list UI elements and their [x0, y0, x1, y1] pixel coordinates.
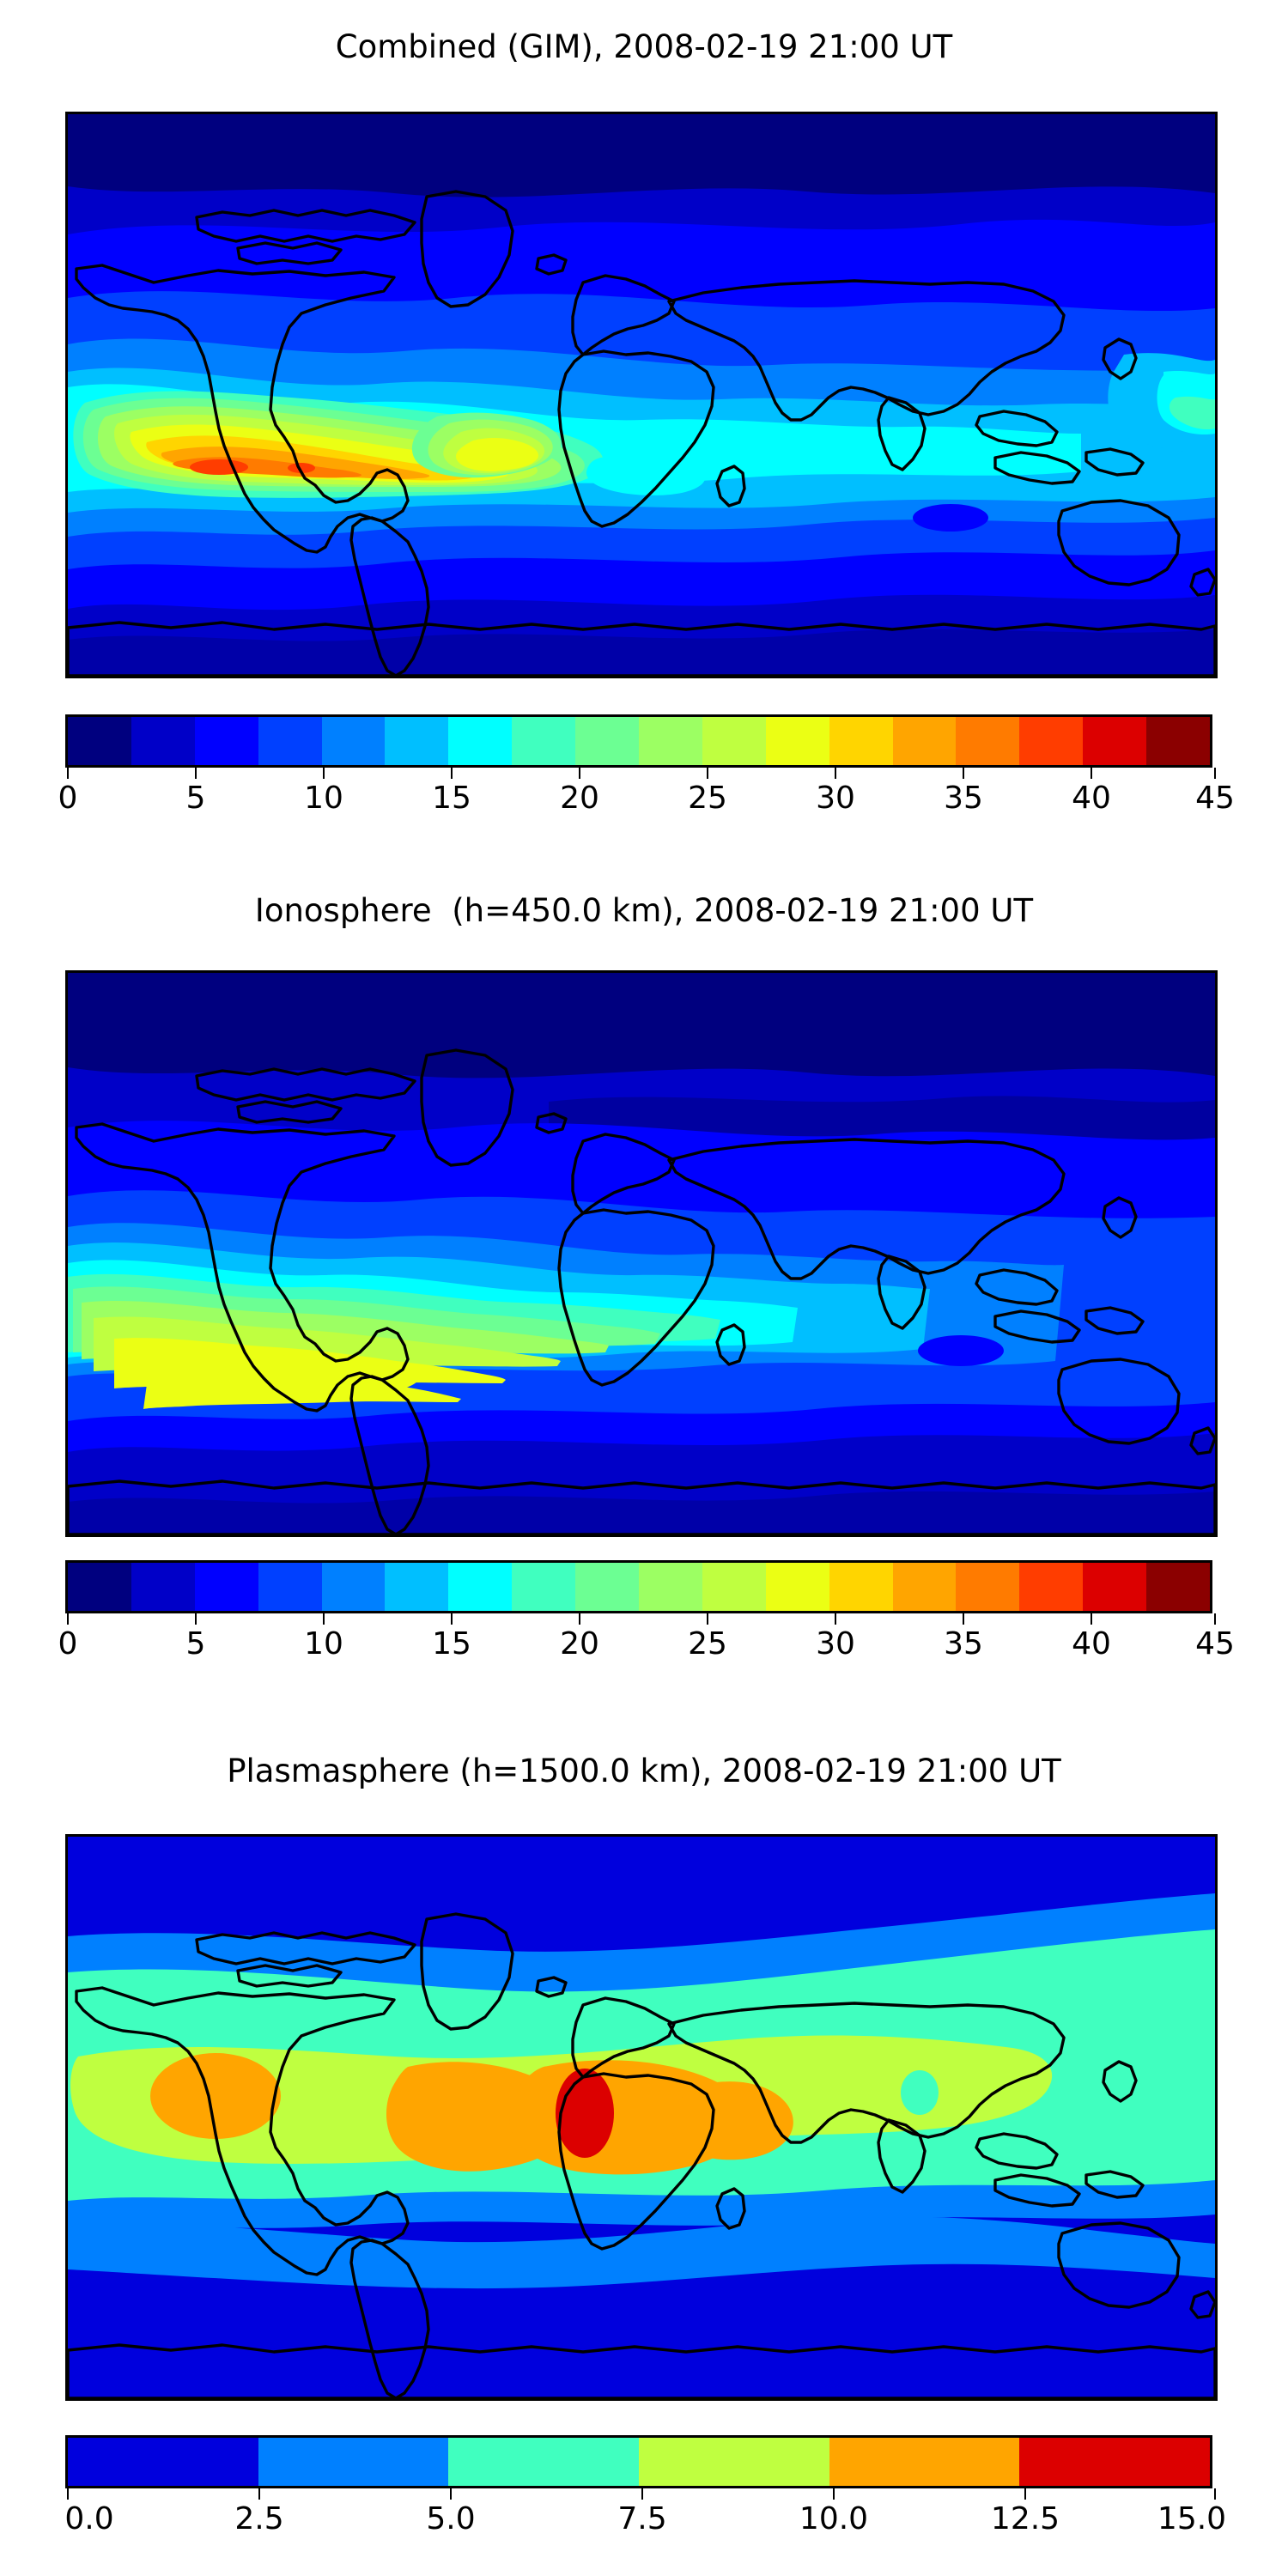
cbar2-tick-0: 0: [58, 1626, 78, 1662]
cbar1-tick-7: 35: [944, 781, 983, 816]
cbar1-tick-1: 5: [186, 781, 206, 816]
map-canvas-plasmasphere: [68, 1837, 1215, 2398]
contour-fills-combined-gim: [68, 114, 1215, 676]
map-combined-gim: [65, 112, 1218, 678]
colorbar-ionosphere: 0 5 10 15 20 25 30 35 40 45: [65, 1560, 1212, 1613]
colorbar-gradient-ionosphere: [65, 1560, 1212, 1613]
cbar3-tick-2: 5.0: [426, 2501, 475, 2537]
map-ionosphere: [65, 970, 1218, 1537]
cbar2-tick-5: 25: [688, 1626, 727, 1662]
colorbar-plasmasphere: 0.0 2.5 5.0 7.5 10.0 12.5 15.0: [65, 2435, 1212, 2488]
colorbar-ticks-combined-gim: 0 5 10 15 20 25 30 35 40 45: [65, 768, 1218, 819]
cbar2-tick-9: 45: [1195, 1626, 1235, 1662]
colorbar-ticks-ionosphere: 0 5 10 15 20 25 30 35 40 45: [65, 1613, 1218, 1665]
cbar2-tick-2: 10: [304, 1626, 343, 1662]
cbar1-tick-6: 30: [816, 781, 855, 816]
cbar1-tick-8: 40: [1072, 781, 1111, 816]
cbar2-tick-4: 20: [560, 1626, 599, 1662]
cbar2-tick-8: 40: [1072, 1626, 1111, 1662]
cbar1-tick-5: 25: [688, 781, 727, 816]
cbar2-tick-1: 5: [186, 1626, 206, 1662]
map-canvas-combined-gim: [68, 114, 1215, 676]
map-canvas-ionosphere: [68, 973, 1215, 1534]
cbar3-tick-1: 2.5: [234, 2501, 283, 2537]
panel-title-ionosphere: Ionosphere (h=450.0 km), 2008-02-19 21:0…: [0, 893, 1288, 929]
cbar1-tick-3: 15: [432, 781, 471, 816]
cbar1-tick-2: 10: [304, 781, 343, 816]
tec-figure: Combined (GIM), 2008-02-19 21:00 UT: [0, 0, 1288, 2576]
colorbar-ticks-plasmasphere: 0.0 2.5 5.0 7.5 10.0 12.5 15.0: [65, 2488, 1218, 2540]
panel-plasmasphere: Plasmasphere (h=1500.0 km), 2008-02-19 2…: [0, 1753, 1288, 1789]
cbar1-tick-0: 0: [58, 781, 78, 816]
cbar3-tick-4: 10.0: [799, 2501, 868, 2537]
map-plasmasphere: [65, 1834, 1218, 2401]
cbar1-tick-4: 20: [560, 781, 599, 816]
contour-fills-ionosphere: [68, 973, 1215, 1534]
colorbar-gradient-plasmasphere: [65, 2435, 1212, 2488]
panel-title-combined-gim: Combined (GIM), 2008-02-19 21:00 UT: [0, 29, 1288, 65]
cbar2-tick-6: 30: [816, 1626, 855, 1662]
colorbar-combined-gim: 0 5 10 15 20 25 30 35 40 45: [65, 714, 1212, 768]
contour-fills-plasmasphere: [68, 1837, 1215, 2398]
panel-title-plasmasphere: Plasmasphere (h=1500.0 km), 2008-02-19 2…: [0, 1753, 1288, 1789]
cbar3-tick-5: 12.5: [991, 2501, 1060, 2537]
cbar3-tick-6: 15.0: [1157, 2501, 1226, 2537]
cbar3-tick-0: 0.0: [64, 2501, 113, 2537]
cbar1-tick-9: 45: [1195, 781, 1235, 816]
panel-ionosphere: Ionosphere (h=450.0 km), 2008-02-19 21:0…: [0, 893, 1288, 929]
colorbar-gradient-combined-gim: [65, 714, 1212, 768]
cbar2-tick-3: 15: [432, 1626, 471, 1662]
cbar3-tick-3: 7.5: [617, 2501, 666, 2537]
cbar2-tick-7: 35: [944, 1626, 983, 1662]
panel-combined-gim: Combined (GIM), 2008-02-19 21:00 UT: [0, 29, 1288, 65]
